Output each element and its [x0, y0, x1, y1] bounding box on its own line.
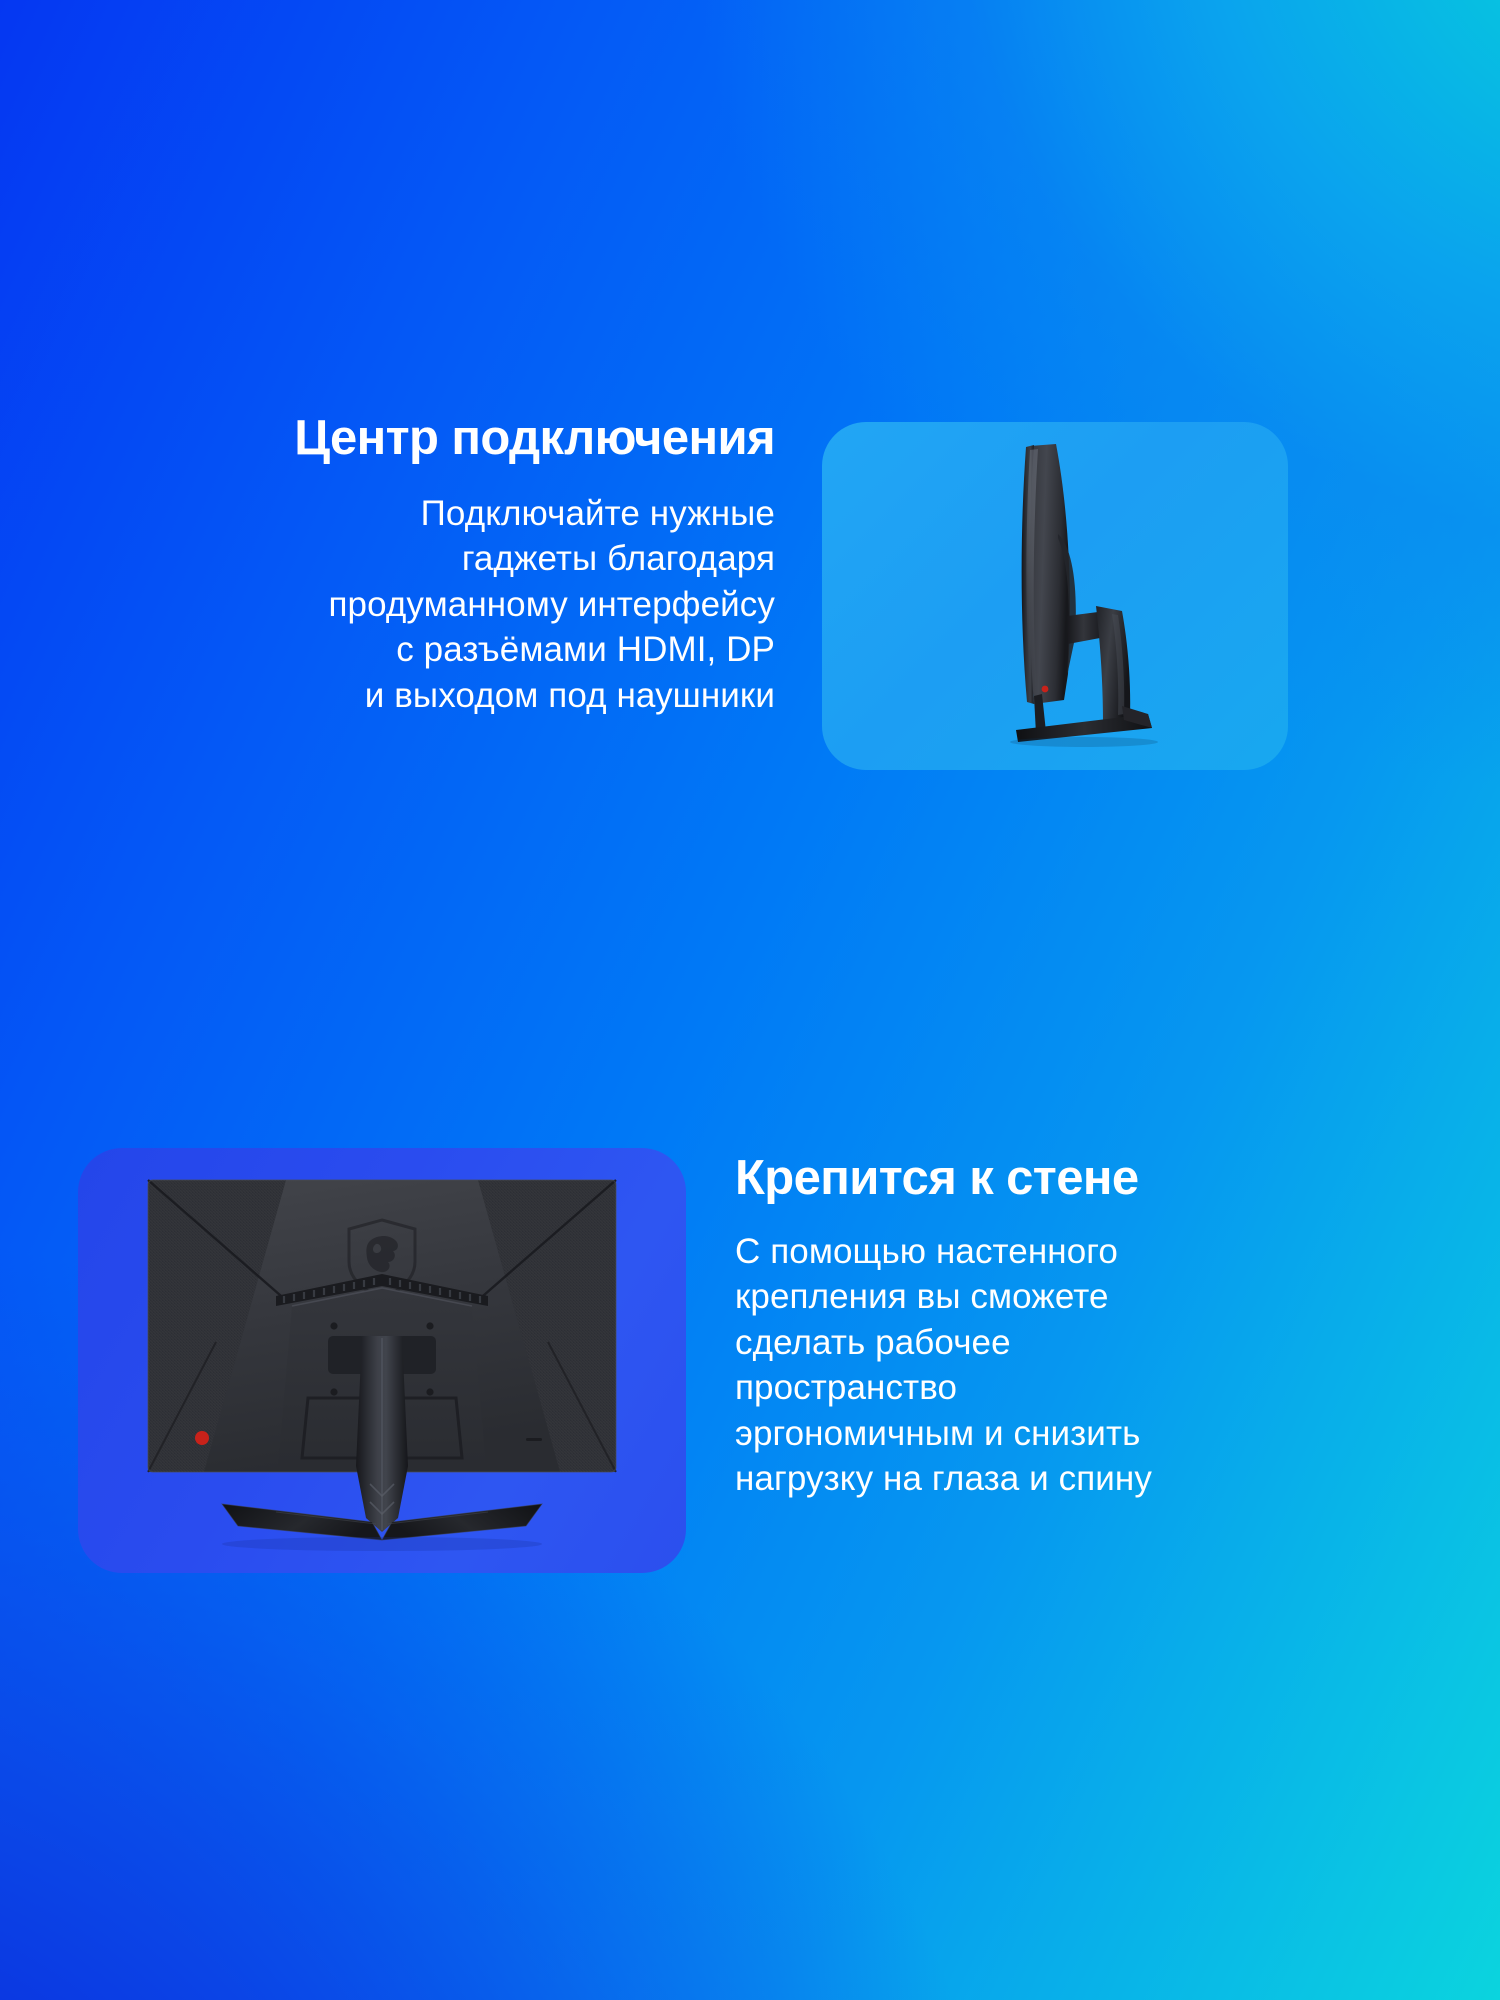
feature-connectivity-title: Центр подключения [60, 412, 775, 465]
monitor-stand-column [1096, 606, 1130, 722]
monitor-stand-column [356, 1336, 408, 1532]
feature-wallmount-body: С помощью настенного крепления вы сможет… [735, 1229, 1375, 1502]
power-led-indicator [195, 1431, 209, 1445]
monitor-base-shadow [222, 1537, 542, 1551]
feature-wallmount-title: Крепится к стене [735, 1152, 1375, 1205]
monitor-osd-marker [526, 1438, 542, 1441]
feature-connectivity-card [822, 422, 1288, 770]
feature-connectivity-text: Центр подключения Подключайте нужные гад… [60, 412, 775, 718]
monitor-rear-view [126, 1166, 638, 1562]
monitor-shadow [1010, 737, 1158, 747]
promo-banner-page: Центр подключения Подключайте нужные гад… [0, 0, 1500, 2000]
feature-wallmount-card [78, 1148, 686, 1573]
monitor-neck-stub [1067, 612, 1100, 644]
feature-connectivity-body: Подключайте нужные гаджеты благодаря про… [60, 491, 775, 719]
monitor-side-view [972, 438, 1272, 768]
power-led-indicator [1042, 686, 1049, 693]
feature-wallmount-text: Крепится к стене С помощью настенного кр… [735, 1152, 1375, 1502]
